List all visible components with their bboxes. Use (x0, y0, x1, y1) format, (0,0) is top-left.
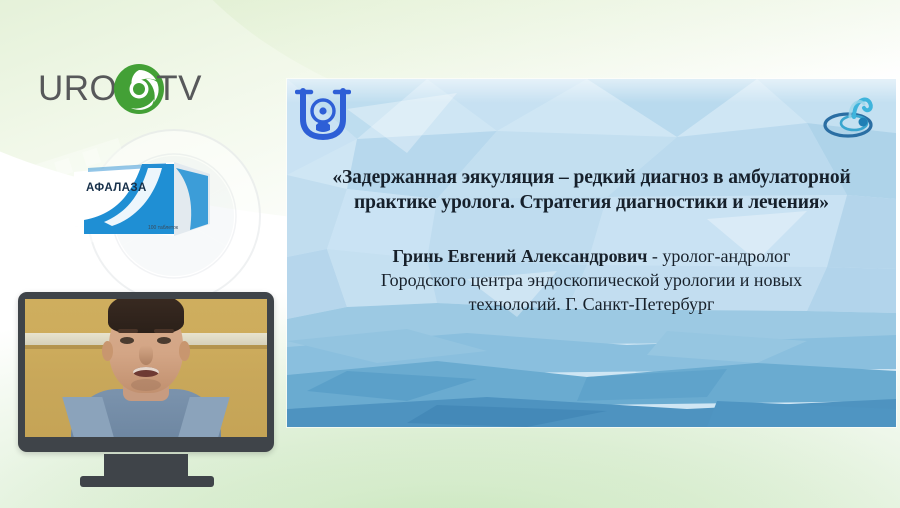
affiliation-line-1: Городского центра эндоскопической уролог… (381, 270, 802, 290)
screen-root: URO TV АФАЛАЗА 100 таблеток (0, 0, 900, 508)
slide-speaker-block: Гринь Евгений Александрович - уролог-анд… (313, 245, 870, 317)
webcam-eye-right (157, 337, 171, 344)
monitor-stand-base (80, 476, 214, 487)
product-box-afalaza: АФАЛАЗА 100 таблеток (70, 158, 218, 240)
logo-text-tv: TV (156, 69, 202, 109)
webcam-nose (139, 345, 153, 365)
speaker-role: - уролог-андролог (647, 246, 790, 266)
endoscopy-u-logo-icon (295, 85, 351, 143)
monitor-frame (18, 292, 274, 452)
affiliation-line-2: технологий. Г. Санкт-Петербург (469, 294, 715, 314)
uro-tv-logo: URO TV (38, 58, 208, 120)
product-count-text: 100 таблеток (148, 225, 179, 231)
monitor-screen (25, 299, 267, 437)
webcam-eye-left (120, 337, 134, 344)
webcam-person-hair (108, 299, 184, 333)
webcam-ear-left (102, 341, 113, 361)
slide-top-highlight (287, 79, 896, 103)
presentation-slide: «Задержанная эякуляция – редкий диагноз … (287, 79, 896, 427)
webcam-brow-left (118, 329, 138, 333)
webcam-mouth (133, 367, 159, 377)
teal-loop-logo-icon (820, 87, 882, 143)
monitor-stand-neck (104, 454, 188, 476)
slide-title: «Задержанная эякуляция – редкий диагноз … (313, 165, 870, 216)
monitor-webcam (18, 292, 274, 488)
webcam-chin (131, 379, 161, 391)
speaker-name: Гринь Евгений Александрович (393, 246, 648, 266)
product-name-text: АФАЛАЗА (86, 182, 147, 194)
webcam-ear-right (179, 341, 190, 361)
webcam-brow-right (154, 329, 174, 333)
logo-text-uro: URO (38, 69, 117, 109)
webcam-feed (25, 299, 267, 437)
slide-text-block: «Задержанная эякуляция – редкий диагноз … (313, 165, 870, 317)
